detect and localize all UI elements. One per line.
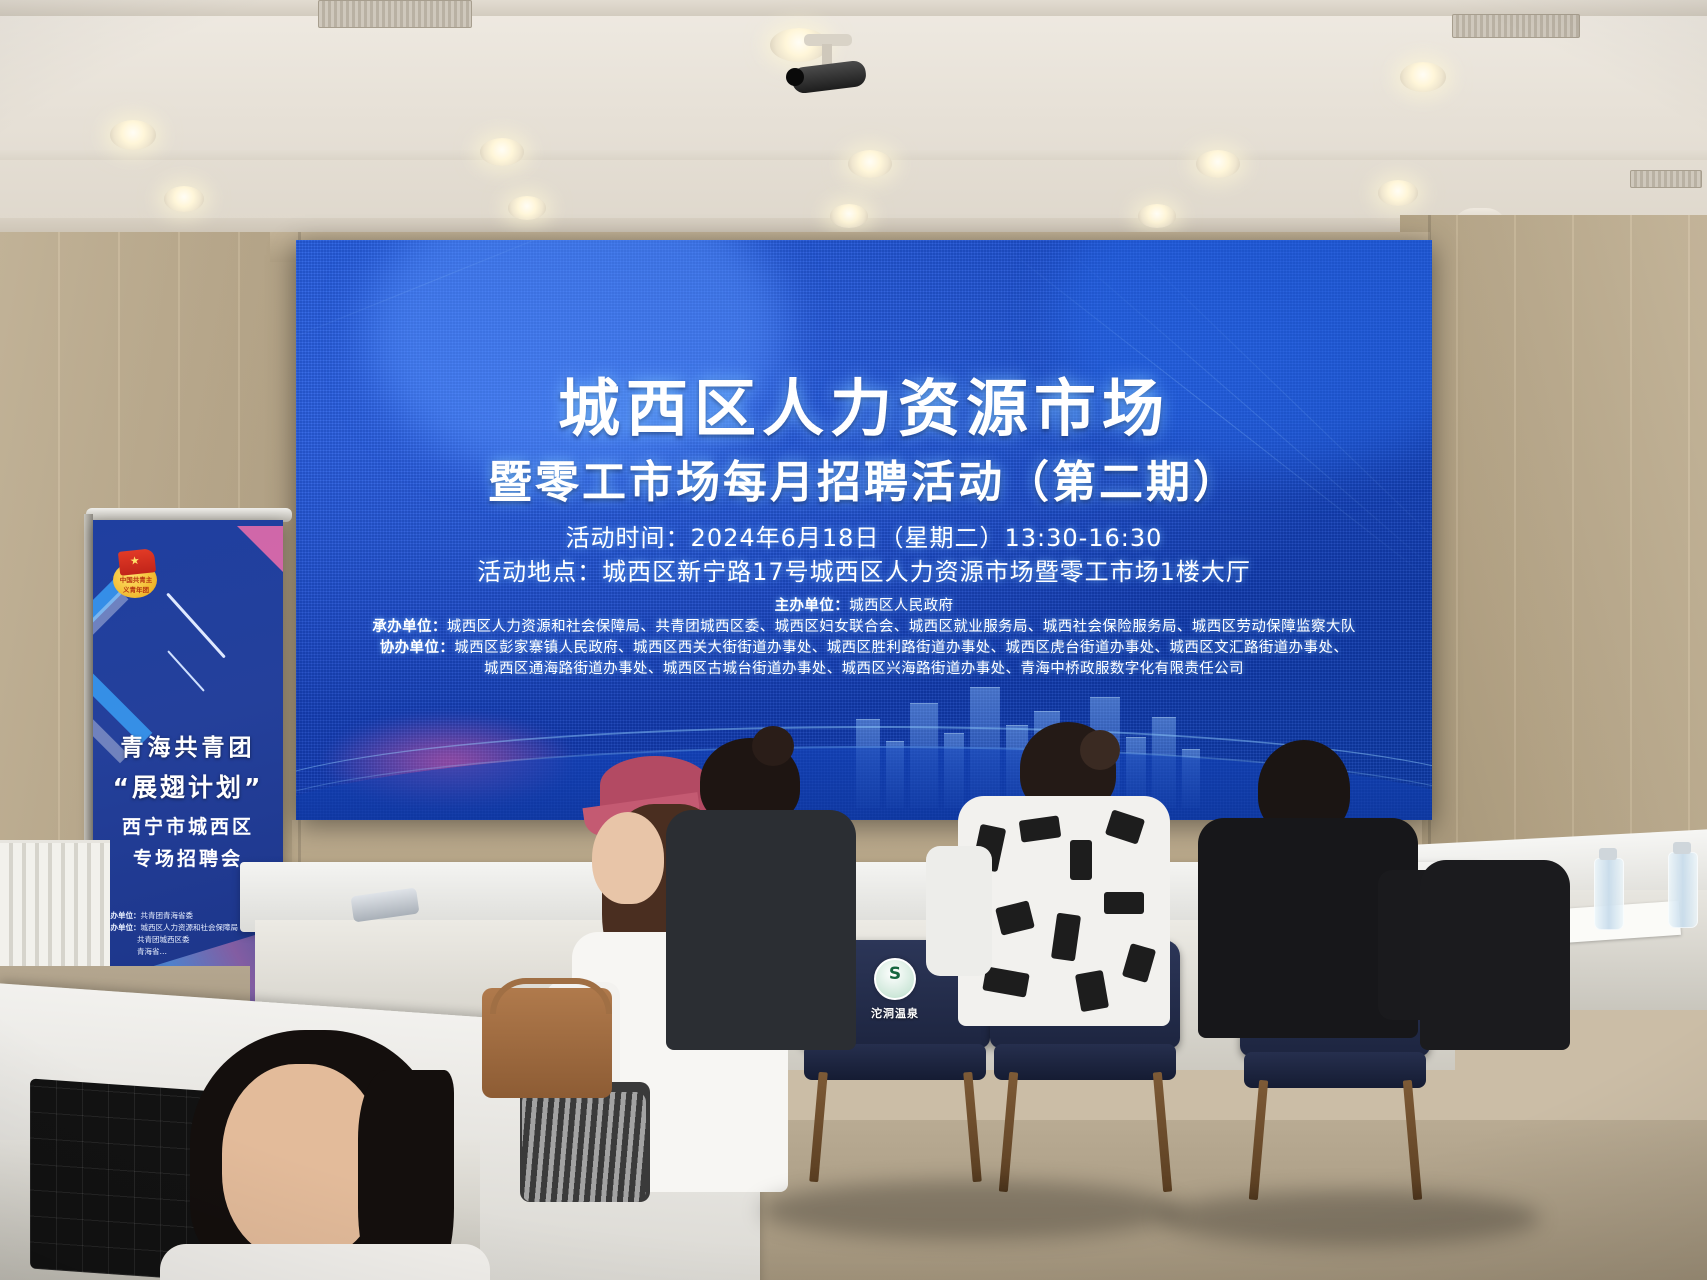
ceiling-vent bbox=[1452, 14, 1580, 38]
person-arm bbox=[926, 846, 992, 976]
floor-shadow bbox=[760, 1180, 1180, 1240]
banner-line-1: 青海共青团 bbox=[93, 728, 283, 762]
banner-line-3: 西宁市城西区 bbox=[93, 812, 283, 839]
bottle-cap bbox=[1599, 848, 1617, 860]
organizer-row: 主办单位：城西区人民政府 bbox=[296, 596, 1432, 617]
organizer-row: 承办单位：城西区人力资源和社会保障局、共青团城西区委、城西区妇女联合会、城西区就… bbox=[296, 617, 1432, 638]
person-hair-bun bbox=[752, 726, 794, 766]
floor-shadow bbox=[1160, 1190, 1540, 1246]
striped-fabric bbox=[522, 1092, 646, 1202]
led-organizers: 主办单位：城西区人民政府 承办单位：城西区人力资源和社会保障局、共青团城西区委、… bbox=[296, 596, 1432, 680]
chair-logo-circle: S bbox=[874, 958, 916, 1000]
organizer-label: 主办单位： bbox=[775, 598, 850, 614]
ceiling-downlight bbox=[508, 196, 546, 220]
ceiling-downlight bbox=[1138, 204, 1176, 228]
ceiling-downlight bbox=[1196, 150, 1240, 178]
organizer-label: 协办单位： bbox=[380, 640, 455, 656]
led-sub-title: 暨零工市场每月招聘活动（第二期） bbox=[296, 446, 1432, 510]
ceiling-downlight bbox=[1378, 180, 1418, 206]
led-event-time: 活动时间：2024年6月18日（星期二）13:30-16:30 bbox=[296, 518, 1432, 553]
ceiling-vent bbox=[318, 0, 472, 28]
chair-logo-glyph: S bbox=[876, 966, 914, 983]
person-head bbox=[592, 812, 664, 904]
ceiling-downlight bbox=[830, 204, 868, 228]
led-main-title: 城西区人力资源市场 bbox=[296, 358, 1432, 448]
banner-footer-value: 共青团青海省委 bbox=[141, 911, 194, 920]
ceiling-downlight bbox=[848, 150, 892, 178]
chair-seat bbox=[1244, 1052, 1426, 1088]
banner-pink-triangle bbox=[237, 526, 283, 578]
organizer-row: 协办单位：城西区彭家寨镇人民政府、城西区西关大街街道办事处、城西区胜利路街道办事… bbox=[296, 638, 1432, 659]
chair-seat bbox=[994, 1044, 1176, 1080]
ceiling-downlight bbox=[480, 138, 524, 166]
photo-scene: 城西区人力资源市场 暨零工市场每月招聘活动（第二期） 活动时间：2024年6月1… bbox=[0, 0, 1707, 1280]
ceiling-vent bbox=[1630, 170, 1702, 188]
led-display: 城西区人力资源市场 暨零工市场每月招聘活动（第二期） 活动时间：2024年6月1… bbox=[296, 240, 1432, 820]
wall-right-panels bbox=[1400, 215, 1707, 915]
water-bottle bbox=[1594, 858, 1624, 930]
communist-youth-league-emblem-icon: ★ 中国共青主义青年团 bbox=[111, 548, 161, 598]
organizer-value: 城西区彭家寨镇人民政府、城西区西关大街街道办事处、城西区胜利路街道办事处、城西区… bbox=[454, 640, 1348, 656]
led-event-place: 活动地点：城西区新宁路17号城西区人力资源市场暨零工市场1楼大厅 bbox=[296, 552, 1432, 587]
handbag-strap bbox=[490, 978, 612, 1014]
emblem-text: 中国共青主义青年团 bbox=[118, 574, 154, 594]
organizer-label: 承办单位： bbox=[372, 619, 447, 635]
banner-line-2: “展翅计划” bbox=[93, 768, 283, 804]
ceiling-downlight bbox=[110, 120, 156, 150]
radiator bbox=[0, 840, 110, 976]
chair-brand-text: 沱洞温泉 bbox=[864, 1005, 926, 1021]
emblem-flag: ★ bbox=[118, 548, 156, 576]
person-torso bbox=[160, 1244, 490, 1280]
banner-footer-value: 共青团城西区委 bbox=[137, 935, 190, 944]
banner-footer-value: 城西区人力资源和社会保障局 bbox=[141, 923, 239, 932]
person-torso bbox=[666, 810, 856, 1050]
emblem-star-icon: ★ bbox=[129, 555, 140, 567]
water-bottle bbox=[1668, 852, 1698, 928]
person-hair-bun bbox=[1080, 730, 1120, 770]
ceiling-downlight bbox=[164, 186, 204, 212]
security-camera bbox=[786, 34, 882, 104]
organizer-value: 城西区人力资源和社会保障局、共青团城西区委、城西区妇女联合会、城西区就业服务局、… bbox=[447, 619, 1356, 635]
camera-lens bbox=[786, 68, 804, 86]
chair-logo: S 沱洞温泉 bbox=[864, 958, 926, 1021]
ceiling-downlight bbox=[1400, 62, 1446, 92]
organizer-value: 城西区人民政府 bbox=[849, 598, 953, 614]
banner-footer-value: 青海省… bbox=[137, 947, 167, 956]
person-torso bbox=[1420, 860, 1570, 1050]
bottle-cap bbox=[1673, 842, 1691, 854]
ceiling-beam bbox=[0, 0, 1707, 16]
